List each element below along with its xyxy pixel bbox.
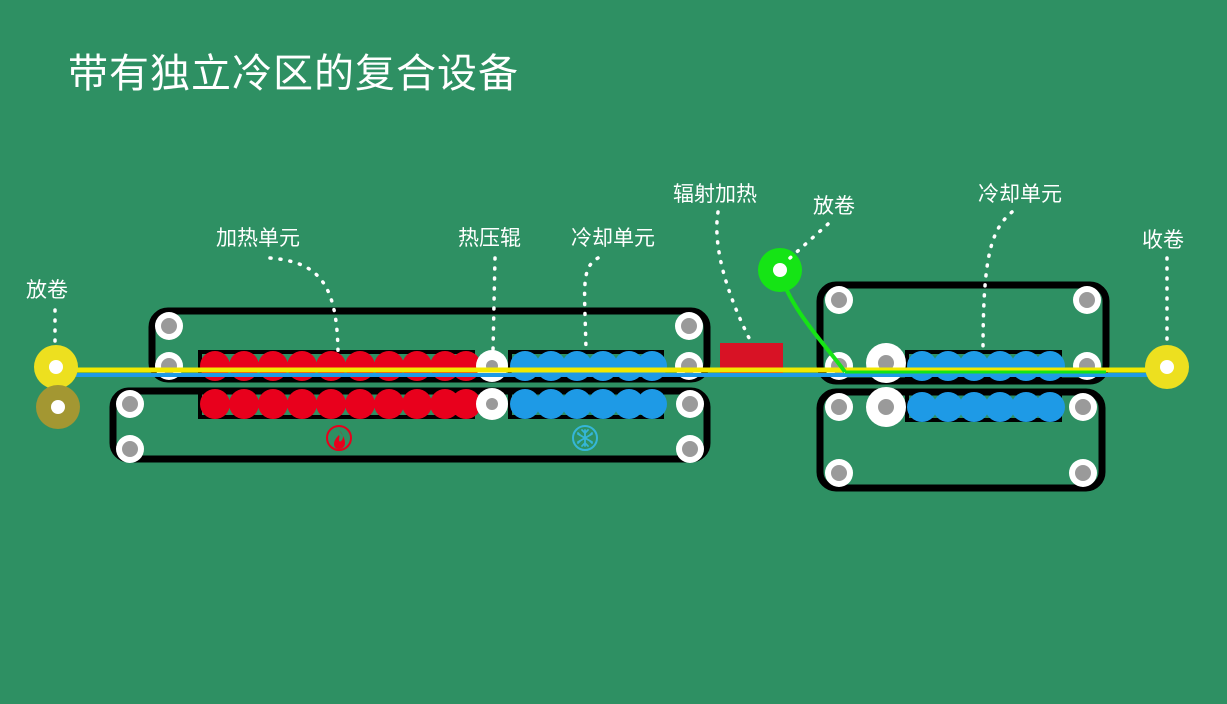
- roller-left-lower-tl[interactable]: [116, 390, 144, 418]
- leader-unwind-right: [790, 224, 828, 258]
- unwind-roll-top[interactable]: [34, 345, 78, 389]
- leader-hot-press-roll: [493, 258, 495, 350]
- roller-right-lower-tr[interactable]: [1069, 393, 1097, 421]
- roller-left-lower-tr[interactable]: [676, 390, 704, 418]
- rewind-roll[interactable]: [1145, 345, 1189, 389]
- flame-icon: [327, 426, 351, 450]
- roller-right-lower-tl[interactable]: [825, 393, 853, 421]
- roller-right-lower-main[interactable]: [866, 387, 906, 427]
- roller-right-upper-tr[interactable]: [1073, 286, 1101, 314]
- roller-right-lower-bl[interactable]: [825, 459, 853, 487]
- hot-press-roller-lower[interactable]: [476, 388, 508, 420]
- unwind-roll-bottom[interactable]: [36, 385, 80, 429]
- roller-left-lower-br[interactable]: [676, 435, 704, 463]
- roller-right-lower-br[interactable]: [1069, 459, 1097, 487]
- hot-press-roller-upper[interactable]: [476, 350, 508, 382]
- left-assembly: [113, 311, 707, 463]
- leader-radiant-heating: [717, 212, 750, 340]
- right-lower-cooler-elements: [907, 392, 1065, 422]
- right-assembly: [820, 285, 1106, 488]
- left-lower-heater-elements: [200, 389, 481, 419]
- leader-cooling-unit-left: [585, 258, 598, 352]
- roller-left-upper-tr[interactable]: [675, 312, 703, 340]
- slide-canvas: 带有独立冷区的复合设备 放卷 加热单元 热压辊 冷却单元 辐射加热 放卷 冷却单…: [0, 0, 1227, 704]
- roller-left-upper-tl[interactable]: [155, 312, 183, 340]
- leader-heating-unit: [270, 258, 338, 352]
- unwind-roll-green[interactable]: [758, 248, 802, 292]
- roller-left-lower-bl[interactable]: [116, 435, 144, 463]
- snowflake-icon: [573, 426, 597, 450]
- roller-right-upper-tl[interactable]: [825, 286, 853, 314]
- equipment-diagram: [0, 0, 1227, 704]
